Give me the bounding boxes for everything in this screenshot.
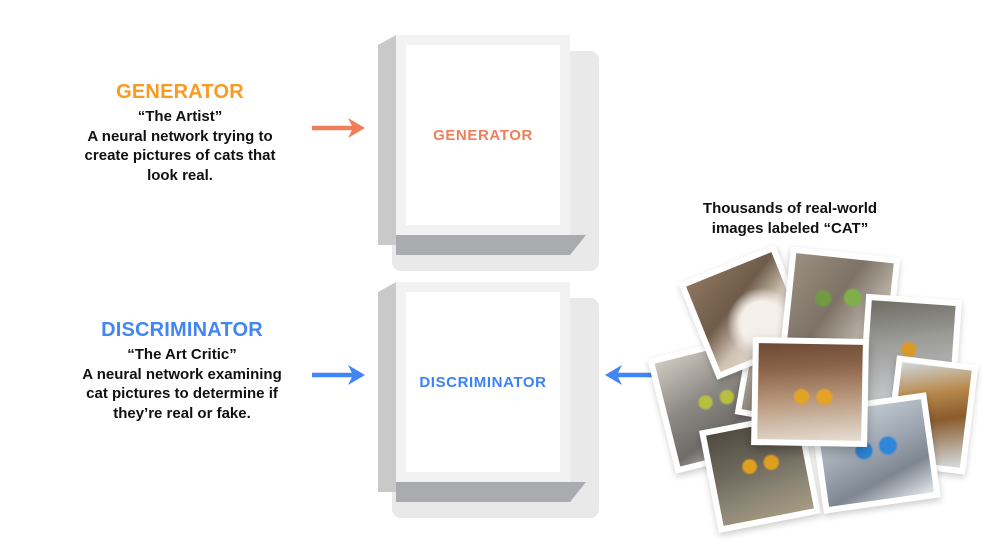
generator-box-left-face [378,45,396,245]
generator-heading: GENERATOR [30,80,330,104]
discriminator-nickname: “The Art Critic” [22,345,342,365]
discriminator-box-front-face: DISCRIMINATOR [396,282,570,482]
cat-photo-image [757,343,863,441]
generator-arrow-right-icon [310,113,370,143]
discriminator-description-line-1: A neural network examining [22,365,342,385]
discriminator-description-line-3: they’re real or fake. [22,404,342,424]
generator-box-front-face: GENERATOR [396,35,570,235]
generator-caption: GENERATOR “The Artist” A neural network … [30,80,330,185]
generator-description-line-1: A neural network trying to [30,127,330,147]
generator-box-bottom-face [396,235,570,255]
discriminator-heading: DISCRIMINATOR [22,318,342,342]
discriminator-description-line-2: cat pictures to determine if [22,384,342,404]
generator-nickname: “The Artist” [30,107,330,127]
generator-description-line-3: look real. [30,166,330,186]
diagram-canvas: GENERATOR “The Artist” A neural network … [0,0,982,549]
discriminator-box-label: DISCRIMINATOR [419,374,546,391]
dataset-caption: Thousands of real-world images labeled “… [670,199,910,239]
discriminator-caption: DISCRIMINATOR “The Art Critic” A neural … [22,318,342,423]
generator-box-label: GENERATOR [433,127,533,144]
dataset-caption-line-2: images labeled “CAT” [670,219,910,239]
discriminator-box-left-face [378,292,396,492]
discriminator-box-bottom-face [396,482,570,502]
cat-photo-tabby-under-blanket [751,337,869,447]
discriminator-box: DISCRIMINATOR [378,282,588,522]
generator-box: GENERATOR [378,35,588,275]
cat-photo-collage [650,252,920,512]
generator-description-line-2: create pictures of cats that [30,146,330,166]
discriminator-arrow-right-icon [310,360,370,390]
dataset-caption-line-1: Thousands of real-world [670,199,910,219]
